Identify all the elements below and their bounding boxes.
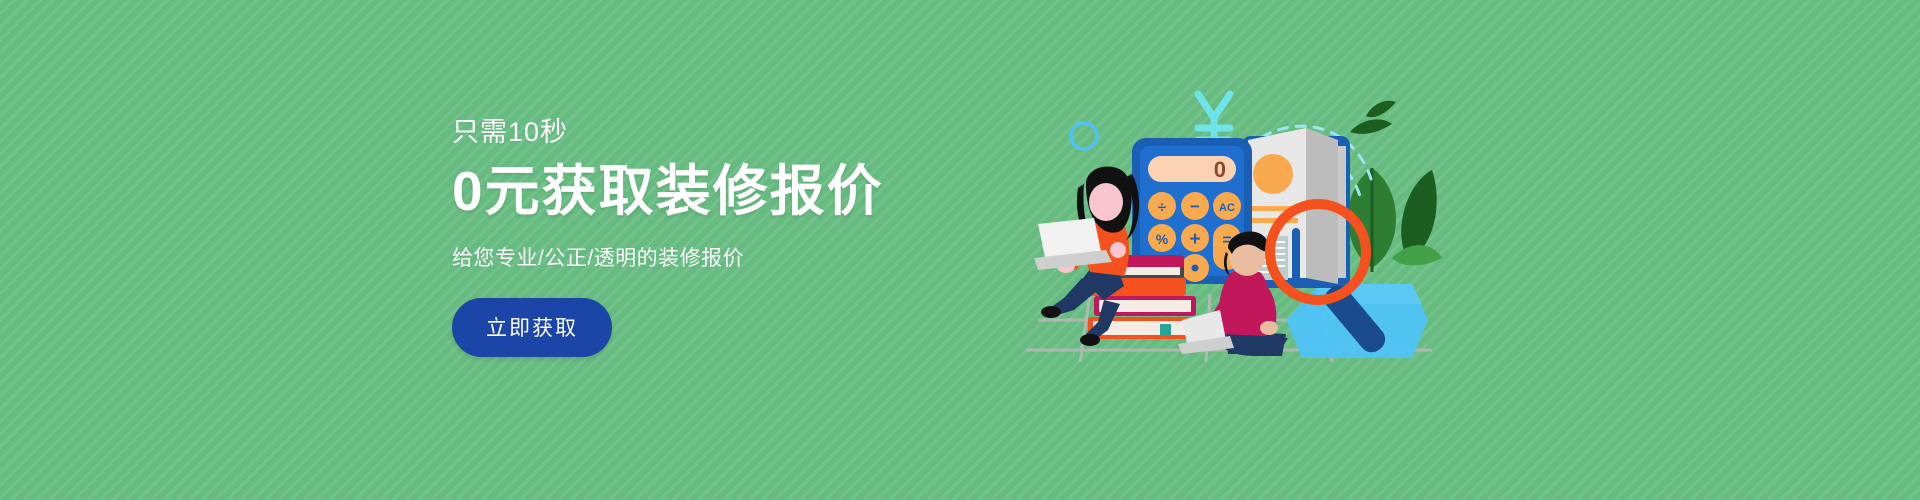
get-quote-button[interactable]: 立即获取 xyxy=(452,298,612,357)
svg-text:AC: AC xyxy=(1219,202,1235,214)
banner-copy-block: 只需10秒 0元获取装修报价 给您专业/公正/透明的装修报价 立即获取 xyxy=(452,118,972,357)
svg-text:÷: ÷ xyxy=(1158,199,1166,216)
svg-text:+: + xyxy=(1189,229,1200,250)
svg-text:−: − xyxy=(1190,197,1200,216)
document-avatar-icon xyxy=(1253,154,1293,194)
banner-kicker: 只需10秒 xyxy=(452,118,972,148)
banner-illustration: 0 ÷ − AC % + = xyxy=(1020,72,1450,382)
decorative-circle-icon xyxy=(1071,123,1097,149)
svg-text:%: % xyxy=(1156,231,1169,247)
banner-headline: 0元获取装修报价 xyxy=(452,161,972,223)
promo-banner: 只需10秒 0元获取装修报价 给您专业/公正/透明的装修报价 立即获取 xyxy=(0,0,1920,500)
banner-subtitle: 给您专业/公正/透明的装修报价 xyxy=(452,246,972,271)
calculator-display-value: 0 xyxy=(1214,157,1226,182)
